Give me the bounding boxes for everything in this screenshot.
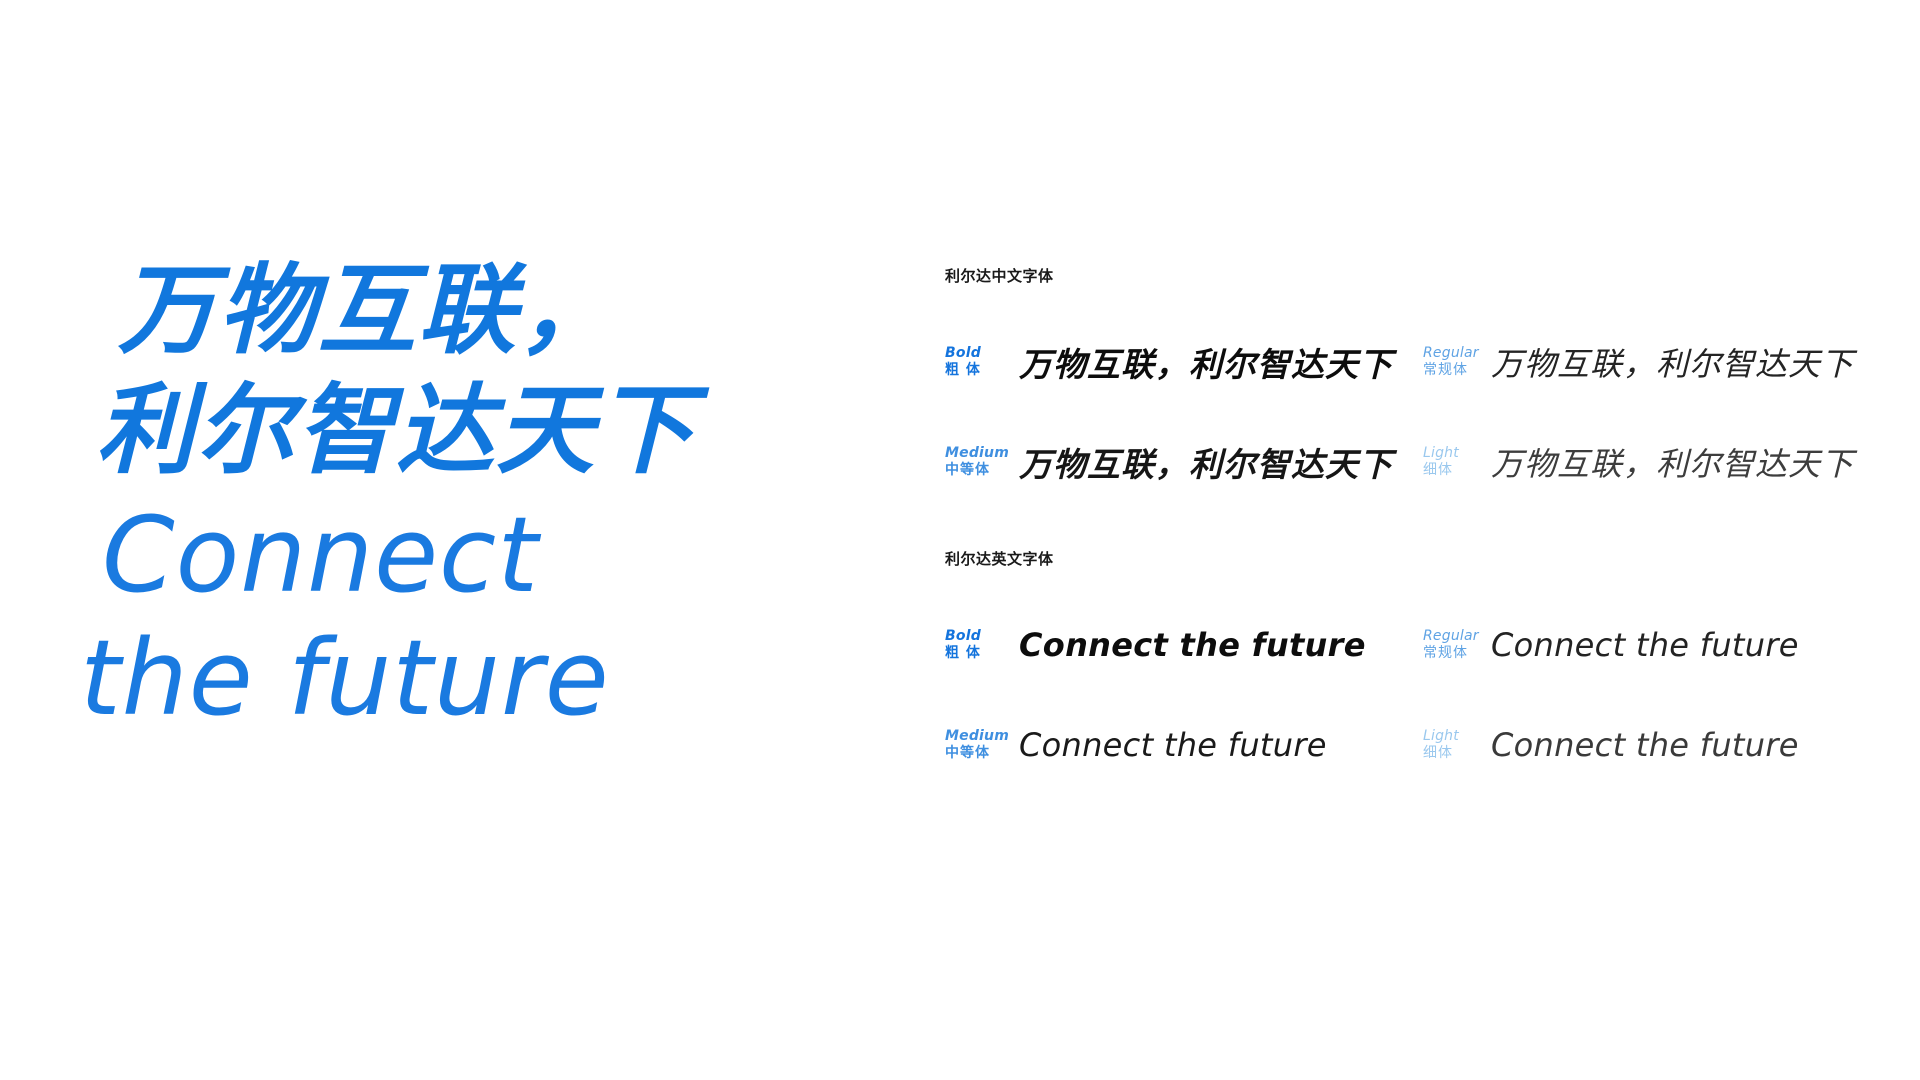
weight-label-cn: 粗 体 [945, 362, 1019, 380]
hero-english-line-2: the future [80, 620, 886, 736]
sample-text-medium: Connect the future [1019, 726, 1327, 764]
weight-label-en: Bold [945, 628, 1019, 646]
weight-label-regular: Regular 常规体 [1423, 628, 1491, 663]
hero-chinese-line-2: 利尔智达天下 [96, 372, 886, 492]
weight-label-cn: 常规体 [1423, 362, 1491, 380]
hero-brand-slogan: 万物互联， 利尔智达天下 Connect the future [96, 252, 886, 736]
weight-label-light: Light 细体 [1423, 445, 1491, 480]
weight-label-regular: Regular 常规体 [1423, 345, 1491, 380]
specimen-cell-light: Light 细体 万物互联，利尔智达天下 [1423, 439, 1901, 485]
specimen-row: Bold 粗 体 Connect the future Regular 常规体 … [945, 617, 1845, 673]
section-english-typeface: 利尔达英文字体 Bold 粗 体 Connect the future Regu… [945, 548, 1845, 773]
weight-label-en: Bold [945, 345, 1019, 363]
specimen-cell-bold: Bold 粗 体 万物互联，利尔智达天下 [945, 338, 1423, 386]
section-title-english: 利尔达英文字体 [945, 548, 1845, 569]
sample-text-light: Connect the future [1491, 726, 1799, 764]
weight-label-cn: 常规体 [1423, 645, 1491, 663]
hero-chinese-line-1: 万物互联， [118, 252, 886, 372]
weight-label-en: Regular [1423, 628, 1491, 646]
specimen-cell-light: Light 细体 Connect the future [1423, 726, 1901, 764]
section-chinese-typeface: 利尔达中文字体 Bold 粗 体 万物互联，利尔智达天下 Regular 常规体… [945, 265, 1845, 490]
sample-text-regular: 万物互联，利尔智达天下 [1491, 339, 1854, 385]
sample-text-light: 万物互联，利尔智达天下 [1491, 439, 1854, 485]
specimen-cell-regular: Regular 常规体 Connect the future [1423, 626, 1901, 664]
specimen-row: Medium 中等体 Connect the future Light 细体 C… [945, 717, 1845, 773]
specimen-rows-chinese: Bold 粗 体 万物互联，利尔智达天下 Regular 常规体 万物互联，利尔… [945, 334, 1845, 490]
weight-label-cn: 中等体 [945, 462, 1019, 480]
hero-english-line-1: Connect [102, 497, 886, 613]
section-title-chinese: 利尔达中文字体 [945, 265, 1845, 286]
weight-label-medium: Medium 中等体 [945, 728, 1019, 763]
weight-label-bold: Bold 粗 体 [945, 628, 1019, 663]
weight-label-cn: 细体 [1423, 745, 1491, 763]
weight-label-light: Light 细体 [1423, 728, 1491, 763]
font-specimen-panel: 利尔达中文字体 Bold 粗 体 万物互联，利尔智达天下 Regular 常规体… [945, 265, 1845, 773]
sample-text-bold: 万物互联，利尔智达天下 [1019, 338, 1393, 386]
specimen-cell-regular: Regular 常规体 万物互联，利尔智达天下 [1423, 339, 1901, 385]
weight-label-cn: 粗 体 [945, 645, 1019, 663]
weight-label-cn: 细体 [1423, 462, 1491, 480]
weight-label-medium: Medium 中等体 [945, 445, 1019, 480]
weight-label-bold: Bold 粗 体 [945, 345, 1019, 380]
sample-text-regular: Connect the future [1491, 626, 1799, 664]
weight-label-cn: 中等体 [945, 745, 1019, 763]
weight-label-en: Light [1423, 445, 1491, 463]
weight-label-en: Medium [945, 445, 1019, 463]
specimen-cell-medium: Medium 中等体 Connect the future [945, 726, 1423, 764]
specimen-row: Bold 粗 体 万物互联，利尔智达天下 Regular 常规体 万物互联，利尔… [945, 334, 1845, 390]
sample-text-medium: 万物互联，利尔智达天下 [1019, 438, 1393, 486]
weight-label-en: Medium [945, 728, 1019, 746]
weight-label-en: Light [1423, 728, 1491, 746]
specimen-cell-bold: Bold 粗 体 Connect the future [945, 626, 1423, 664]
weight-label-en: Regular [1423, 345, 1491, 363]
specimen-cell-medium: Medium 中等体 万物互联，利尔智达天下 [945, 438, 1423, 486]
specimen-rows-english: Bold 粗 体 Connect the future Regular 常规体 … [945, 617, 1845, 773]
sample-text-bold: Connect the future [1019, 626, 1366, 664]
specimen-row: Medium 中等体 万物互联，利尔智达天下 Light 细体 万物互联，利尔智… [945, 434, 1845, 490]
